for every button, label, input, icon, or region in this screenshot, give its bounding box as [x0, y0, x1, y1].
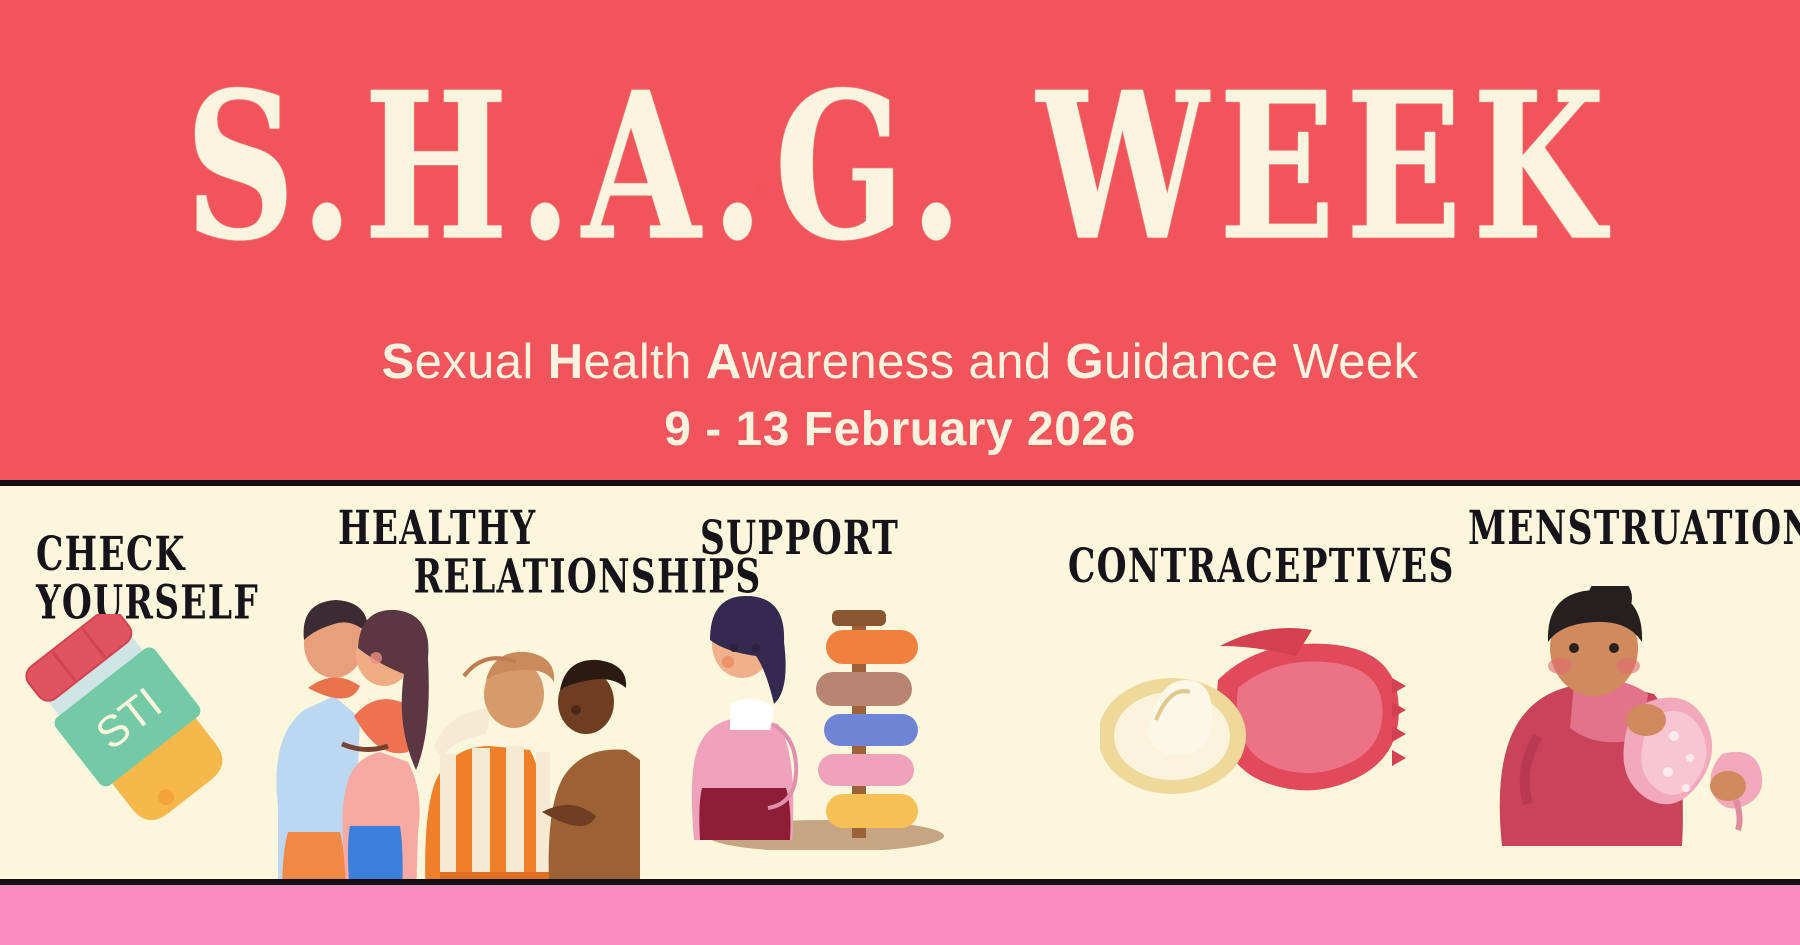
subtitle-initial-a: A [706, 335, 742, 389]
category-label-line1: CONTRACEPTIVES [1068, 538, 1455, 593]
subtitle: Sexual Health Awareness and Guidance Wee… [382, 334, 1419, 390]
category-label-line1: CHECK [36, 526, 186, 581]
subtitle-word-awareness: wareness and [742, 335, 1066, 389]
couple-consoling-icon [410, 636, 640, 885]
banner-header: S.H.A.G. WEEK Sexual Health Awareness an… [0, 0, 1800, 486]
sti-test-tube-icon: STI [18, 614, 248, 834]
footer-strip [0, 885, 1800, 945]
subtitle-initial-h: H [548, 335, 584, 389]
subtitle-word-sexual: exual [415, 335, 548, 389]
category-label-line1: HEALTHY [338, 500, 536, 555]
subtitle-initial-s: S [382, 335, 415, 389]
subtitle-word-health: ealth [584, 335, 706, 389]
subtitle-initial-g: G [1066, 335, 1105, 389]
category-label-line1: MENSTRUATION [1468, 500, 1800, 555]
category-label-menstruation: MENSTRUATION [1468, 504, 1800, 553]
category-label-support: SUPPORT [700, 514, 899, 563]
event-dates: 9 - 13 February 2026 [664, 402, 1136, 457]
couples-illustration-icon [238, 596, 438, 885]
category-label-contraceptives: CONTRACEPTIVES [1068, 542, 1455, 591]
category-label-healthy-relationships: HEALTHY RELATIONSHIPS [338, 504, 762, 601]
page-title: S.H.A.G. WEEK [185, 66, 1615, 269]
category-panel: CHECK YOURSELF STI HEALTHY RELATIONSHIPS [0, 486, 1800, 885]
condom-icon [1100, 616, 1410, 816]
category-label-check-yourself: CHECK YOURSELF [36, 530, 259, 627]
shag-week-banner: S.H.A.G. WEEK Sexual Health Awareness an… [0, 0, 1800, 945]
signpost-person-icon [676, 592, 946, 850]
subtitle-word-guidance: uidance Week [1104, 335, 1418, 389]
menstrual-pad-person-icon [1478, 586, 1778, 846]
category-label-line1: SUPPORT [700, 510, 899, 565]
